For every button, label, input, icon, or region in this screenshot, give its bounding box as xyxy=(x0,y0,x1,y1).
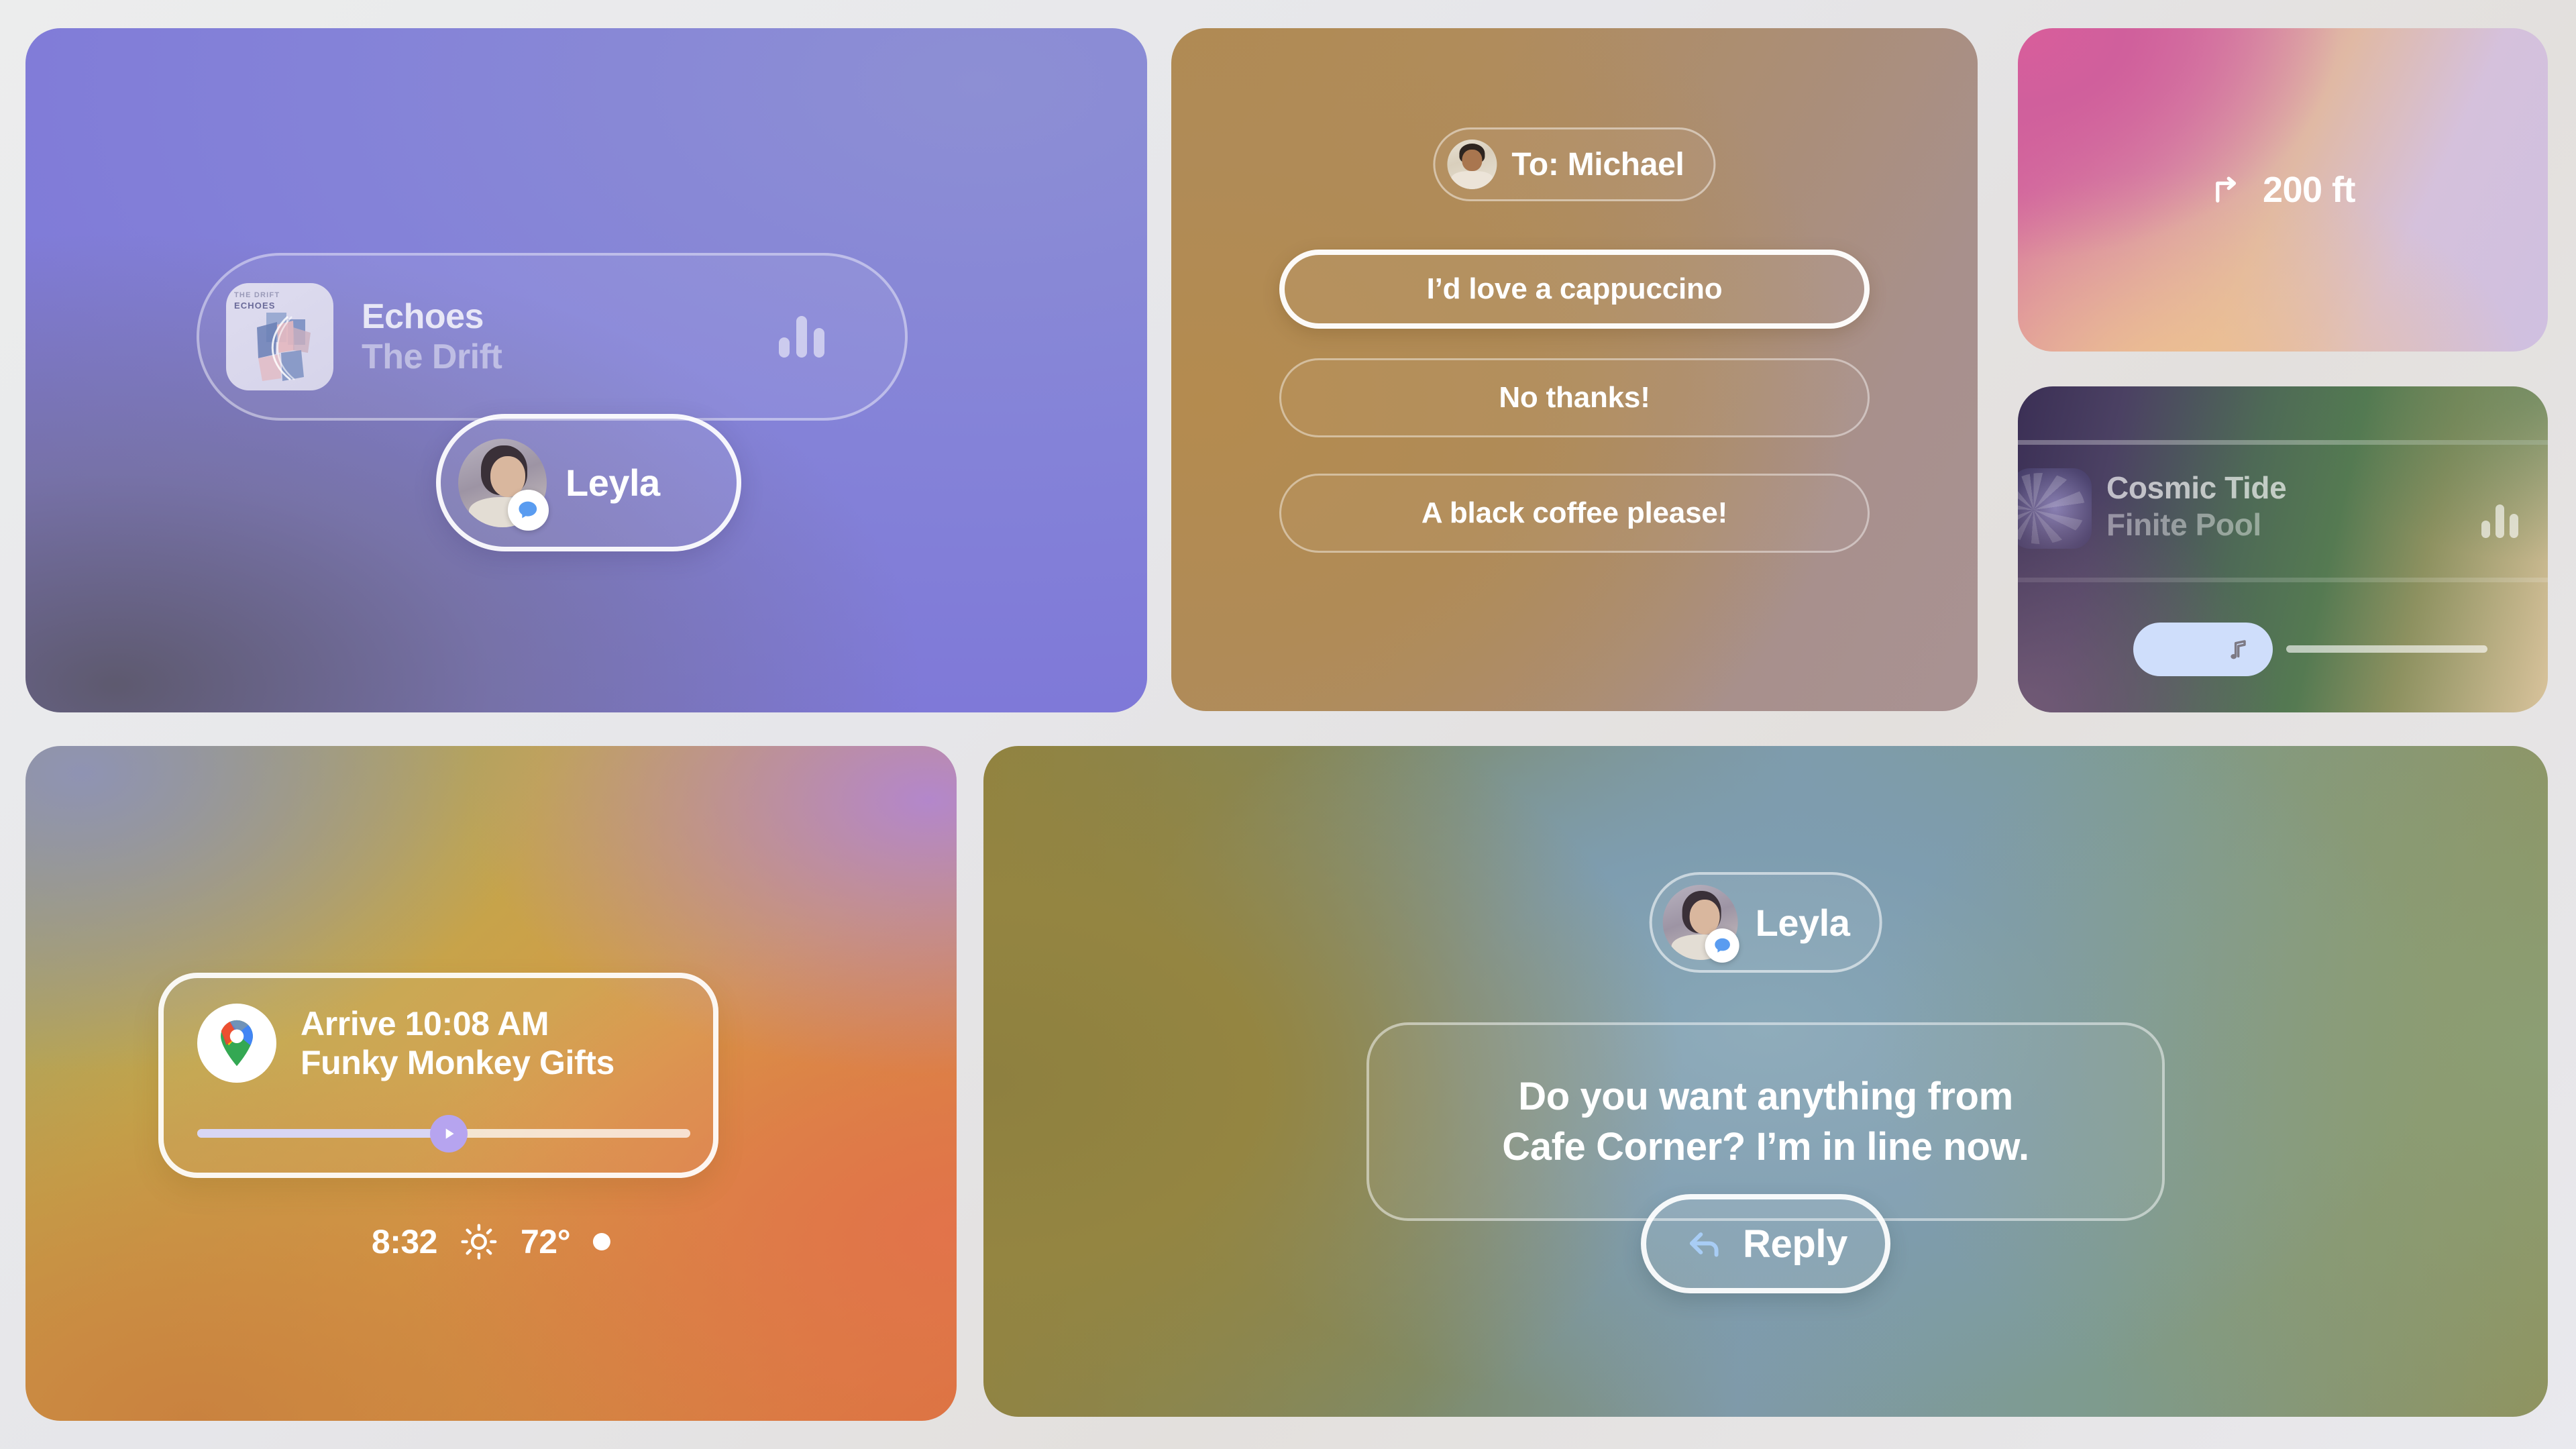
equalizer-icon xyxy=(2481,504,2518,538)
divider-bottom xyxy=(2018,578,2548,582)
card-incoming-message[interactable]: Leyla Do you want anything from Cafe Cor… xyxy=(983,746,2548,1417)
music-note-icon xyxy=(2224,633,2251,665)
sender-chip-leyla[interactable]: Leyla xyxy=(1650,872,1882,973)
eta-text: Arrive 10:08 AM Funky Monkey Gifts xyxy=(301,1004,614,1082)
cosmic-track-artist: Finite Pool xyxy=(2106,508,2286,542)
card-maps-eta[interactable]: Arrive 10:08 AM Funky Monkey Gifts 8:32 xyxy=(25,746,957,1421)
card-navigation-distance[interactable]: 200 ft xyxy=(2018,28,2548,352)
album-art-cosmic xyxy=(2018,468,2092,549)
message-line-2: Cafe Corner? I’m in line now. xyxy=(1502,1122,2029,1172)
cosmic-track-title: Cosmic Tide xyxy=(2106,471,2286,505)
album-art-shapes-icon xyxy=(226,283,333,390)
message-line-1: Do you want anything from xyxy=(1518,1071,2013,1122)
eta-progress-fill xyxy=(197,1129,449,1138)
eta-destination: Funky Monkey Gifts xyxy=(301,1043,614,1082)
divider-top xyxy=(2018,440,2548,445)
eta-panel[interactable]: Arrive 10:08 AM Funky Monkey Gifts xyxy=(158,973,718,1178)
cosmic-track-text: Cosmic Tide Finite Pool xyxy=(2106,471,2286,541)
reply-option-0-label: I’d love a cappuccino xyxy=(1427,272,1723,306)
reply-arrow-icon xyxy=(1684,1223,1725,1265)
card-now-playing-music[interactable]: THE DRIFT ECHOES Echoes The Drift xyxy=(25,28,1147,712)
turn-right-arrow-icon xyxy=(2210,172,2245,207)
avatar-leyla xyxy=(1663,885,1738,960)
track-title: Echoes xyxy=(362,298,502,335)
eta-header-row: Arrive 10:08 AM Funky Monkey Gifts xyxy=(164,978,713,1083)
avatar-michael xyxy=(1447,140,1497,189)
status-time: 8:32 xyxy=(372,1222,437,1261)
status-temperature: 72° xyxy=(521,1222,570,1261)
message-bubble-icon xyxy=(1705,928,1739,963)
navigation-maneuver-row: 200 ft xyxy=(2210,169,2355,211)
album-art-thumbnail: THE DRIFT ECHOES xyxy=(226,283,333,390)
track-artist: The Drift xyxy=(362,338,502,376)
status-dot-icon xyxy=(593,1233,610,1250)
sun-icon xyxy=(460,1223,498,1260)
navigation-distance: 200 ft xyxy=(2263,169,2355,211)
message-bubble-icon xyxy=(508,490,549,531)
contact-name: Leyla xyxy=(566,461,660,504)
reply-option-2-label: A black coffee please! xyxy=(1421,496,1727,530)
now-playing-pill[interactable]: THE DRIFT ECHOES Echoes The Drift xyxy=(197,253,908,421)
avatar-leyla xyxy=(458,439,547,527)
play-triangle-icon[interactable] xyxy=(430,1115,468,1152)
equalizer-icon xyxy=(779,316,824,358)
recipient-chip[interactable]: To: Michael xyxy=(1433,127,1715,201)
now-playing-text: Echoes The Drift xyxy=(362,298,502,376)
reply-option-1[interactable]: No thanks! xyxy=(1279,358,1870,437)
reply-option-2[interactable]: A black coffee please! xyxy=(1279,474,1870,553)
recipient-label: To: Michael xyxy=(1511,146,1684,183)
sender-name: Leyla xyxy=(1756,901,1850,945)
reply-button-label: Reply xyxy=(1743,1222,1847,1267)
cosmic-progress-track[interactable] xyxy=(2286,645,2487,653)
card-suggested-replies[interactable]: To: Michael I’d love a cappuccino No tha… xyxy=(1171,28,1978,711)
reply-option-0[interactable]: I’d love a cappuccino xyxy=(1279,250,1870,329)
google-maps-pin-icon xyxy=(197,1004,276,1083)
reply-option-1-label: No thanks! xyxy=(1499,381,1650,415)
eta-arrive-line: Arrive 10:08 AM xyxy=(301,1004,614,1043)
reply-button[interactable]: Reply xyxy=(1641,1194,1890,1293)
widget-gallery-stage: THE DRIFT ECHOES Echoes The Drift xyxy=(0,0,2576,1449)
contact-chip-leyla[interactable]: Leyla xyxy=(436,414,741,551)
card-now-playing-cosmic[interactable]: Cosmic Tide Finite Pool xyxy=(2018,386,2548,712)
eta-progress-track[interactable] xyxy=(197,1129,690,1138)
status-row: 8:32 72° xyxy=(372,1222,610,1261)
music-note-pill[interactable] xyxy=(2133,623,2273,676)
message-bubble: Do you want anything from Cafe Corner? I… xyxy=(1366,1022,2165,1221)
